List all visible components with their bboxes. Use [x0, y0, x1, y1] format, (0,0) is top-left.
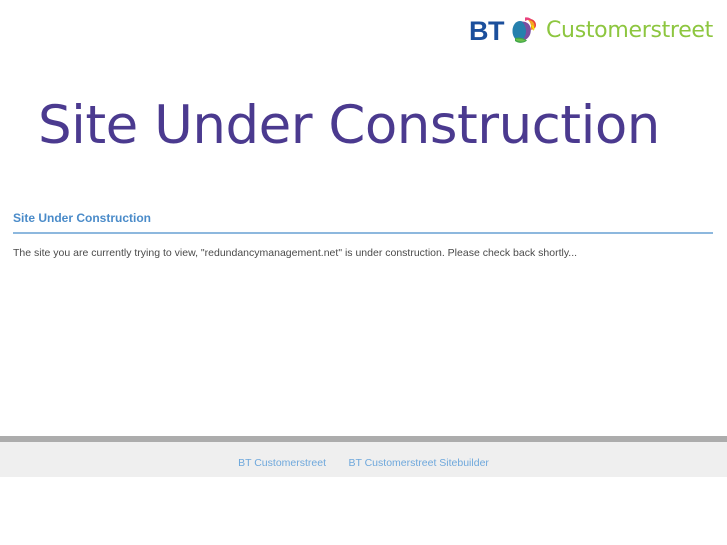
customerstreet-wordmark: Customerstreet: [546, 20, 713, 42]
page-header: BT Customerstreet: [0, 0, 727, 72]
bt-wordmark: BT: [469, 18, 504, 45]
footer-link-bt-customerstreet[interactable]: BT Customerstreet: [238, 457, 326, 469]
content-divider: [13, 232, 713, 234]
hero-section: Site Under Construction: [38, 96, 708, 155]
content-section: Site Under Construction The site you are…: [13, 211, 714, 262]
page-title: Site Under Construction: [38, 96, 708, 155]
bt-connected-world-globe-icon: [507, 15, 539, 47]
content-heading: Site Under Construction: [13, 211, 714, 225]
page-footer: BT Customerstreet BT Customerstreet Site…: [0, 442, 727, 477]
bt-customerstreet-logo[interactable]: BT Customerstreet: [469, 14, 713, 48]
content-body-text: The site you are currently trying to vie…: [13, 246, 714, 261]
footer-link-list: BT Customerstreet BT Customerstreet Site…: [0, 453, 727, 471]
page-root: BT Customerstreet Site Under Constructio…: [0, 0, 727, 545]
footer-link-bt-customerstreet-sitebuilder[interactable]: BT Customerstreet Sitebuilder: [348, 457, 488, 469]
footer-spacer: [0, 477, 727, 545]
